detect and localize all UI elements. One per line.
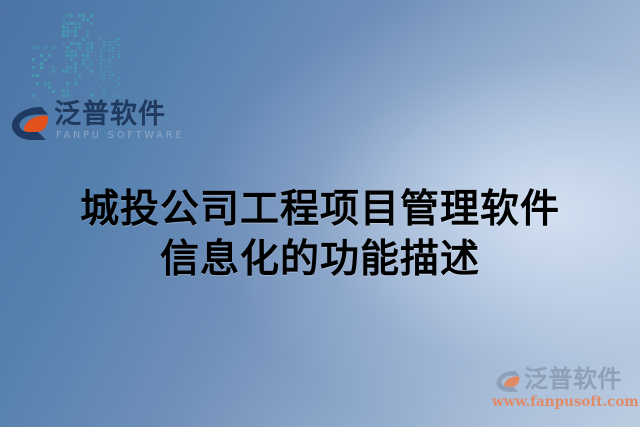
brand-logo-name-cn: 泛普软件 [54,100,166,130]
mosaic-right-tower [100,38,123,98]
slide-title: 城投公司工程项目管理软件 信息化的功能描述 [0,185,640,285]
fanpu-sail-mark-watermark-icon [494,367,522,395]
brand-logo-name-en: FANPU SOFTWARE [56,130,184,142]
mosaic-center-tower [62,14,95,98]
fanpu-sail-mark-icon [8,101,52,145]
watermark-url: www.fanpusoft.com [492,394,639,410]
slide-canvas: 泛普软件 FANPU SOFTWARE 城投公司工程项目管理软件 信息化的功能描… [0,0,640,427]
title-line-1: 城投公司工程项目管理软件 [0,185,640,235]
watermark-name-cn: 泛普软件 [524,364,622,394]
title-line-2: 信息化的功能描述 [0,235,640,285]
watermark: 泛普软件 www.fanpusoft.com [488,363,634,415]
mosaic-left-tower [32,46,58,98]
brand-logo: 泛普软件 FANPU SOFTWARE [8,99,188,151]
